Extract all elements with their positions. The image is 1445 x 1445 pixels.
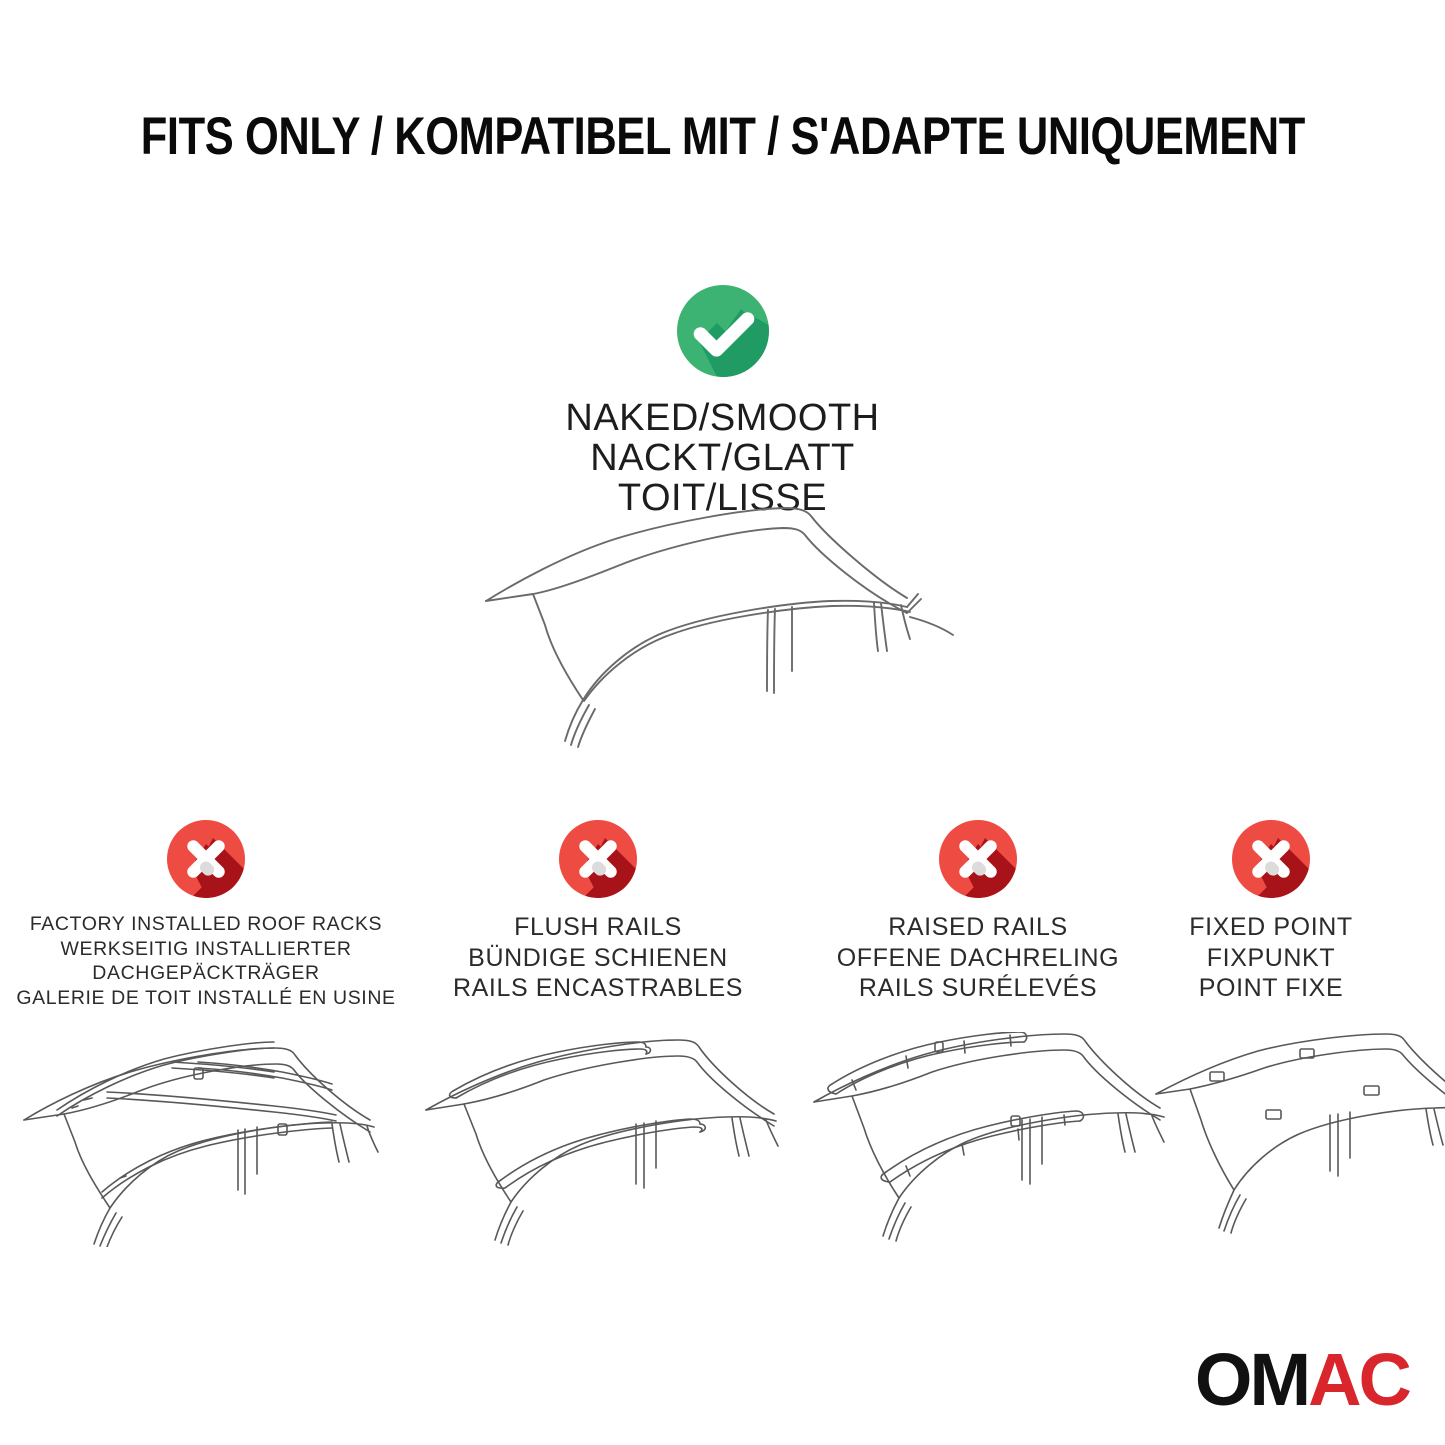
incompatible-item-factory-installed-roof-racks: FACTORY INSTALLED ROOF RACKS WERKSEITIG … [6,820,406,1010]
x-glyph [167,820,245,898]
incompatible-row: FACTORY INSTALLED ROOF RACKS WERKSEITIG … [0,820,1445,1270]
car-roof-factory-rack-illustration [2,1032,402,1247]
logo-text-om: OM [1195,1343,1308,1417]
car-roof-naked-smooth-illustration [455,495,995,755]
incompatible-labels: FACTORY INSTALLED ROOF RACKS WERKSEITIG … [16,912,395,1010]
incompatible-labels: FIXED POINT FIXPUNKT POINT FIXE [1189,912,1353,1004]
incompatible-label-de: OFFENE DACHRELING [837,943,1119,974]
logo-text-ac: AC [1308,1343,1409,1417]
incompatible-labels: RAISED RAILS OFFENE DACHRELING RAILS SUR… [837,912,1119,1004]
incompatible-label-fr: GALERIE DE TOIT INSTALLÉ EN USINE [16,986,395,1011]
red-x-circle-icon [167,820,245,898]
red-x-circle-icon [1232,820,1310,898]
incompatible-label-en: RAISED RAILS [837,912,1119,943]
car-roof-raised-rails-illustration [796,1032,1184,1247]
check-glyph [677,285,769,377]
incompatible-label-de: FIXPUNKT [1189,943,1353,974]
incompatible-labels: FLUSH RAILS BÜNDIGE SCHIENEN RAILS ENCAS… [453,912,743,1004]
incompatible-label-en: FACTORY INSTALLED ROOF RACKS [16,912,395,937]
incompatible-item-flush-rails: FLUSH RAILS BÜNDIGE SCHIENEN RAILS ENCAS… [400,820,796,1004]
compatible-label-en: NAKED/SMOOTH [565,399,879,439]
incompatible-label-fr: RAILS SURÉLEVÉS [837,973,1119,1004]
x-glyph [1232,820,1310,898]
incompatible-item-fixed-point: FIXED POINT FIXPUNKT POINT FIXE [1148,820,1394,1004]
x-glyph [559,820,637,898]
incompatible-label-de: BÜNDIGE SCHIENEN [453,943,743,974]
page-title-bar: FITS ONLY / KOMPATIBEL MIT / S'ADAPTE UN… [0,105,1445,167]
green-check-circle-icon [677,285,769,377]
incompatible-label-de-1: WERKSEITIG INSTALLIERTER [16,937,395,962]
red-x-circle-icon [939,820,1017,898]
incompatible-item-raised-rails: RAISED RAILS OFFENE DACHRELING RAILS SUR… [790,820,1166,1004]
car-roof-fixed-point-illustration [1140,1032,1445,1247]
compatible-block: NAKED/SMOOTH NACKT/GLATT TOIT/LISSE [440,285,1005,519]
compatible-label-de: NACKT/GLATT [565,439,879,479]
red-x-circle-icon [559,820,637,898]
page-title: FITS ONLY / KOMPATIBEL MIT / S'ADAPTE UN… [140,106,1304,167]
car-roof-flush-rails-illustration [406,1032,798,1247]
incompatible-label-de-2: DACHGEPÄCKTRÄGER [16,961,395,986]
incompatible-label-fr: POINT FIXE [1189,973,1353,1004]
x-glyph [939,820,1017,898]
incompatible-label-fr: RAILS ENCASTRABLES [453,973,743,1004]
omac-logo: OM AC [1195,1343,1409,1417]
incompatible-label-en: FLUSH RAILS [453,912,743,943]
incompatible-label-en: FIXED POINT [1189,912,1353,943]
